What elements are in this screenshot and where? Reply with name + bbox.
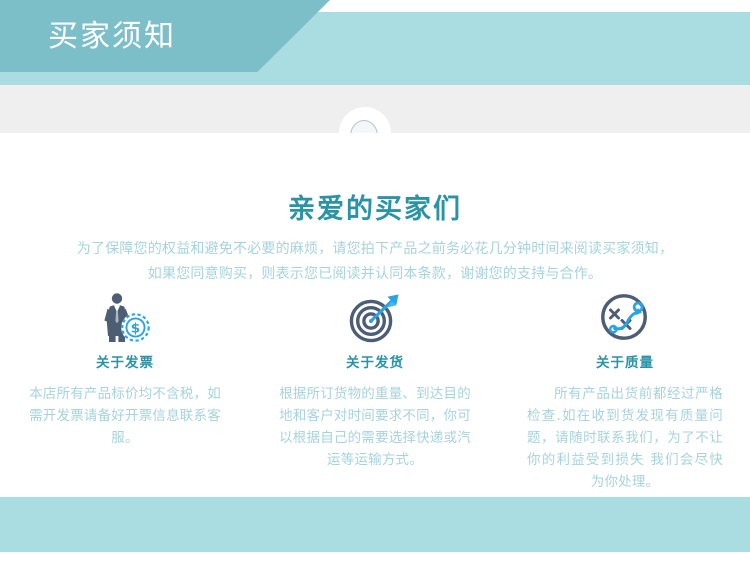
buyer-notice-banner: 买家须知 亲爱的买家们 为了保障您的权益和避免不必要的麻烦，请您拍下产品之前务必… <box>0 0 750 570</box>
column-text-quality: 所有产品出货前都经过严格检查.如在收到货发现有质量问题，请随时联系我们，为了不让… <box>527 383 723 493</box>
column-heading-invoice: 关于发票 <box>96 354 154 372</box>
info-columns: $ 关于发票 本店所有产品标价均不含税，如需开发票请备好开票信息联系客服。 <box>0 291 750 493</box>
page-header: 买家须知 <box>0 0 750 85</box>
intro-line-1: 为了保障您的权益和避免不必要的麻烦，请您拍下产品之前务必花几分钟时间来阅读买家须… <box>60 237 690 262</box>
footer-white-strip <box>0 552 750 570</box>
footer-band <box>0 497 750 552</box>
svg-text:$: $ <box>131 320 140 336</box>
businessman-with-dollar-coin-icon: $ <box>96 291 154 343</box>
intro-paragraph: 为了保障您的权益和避免不必要的麻烦，请您拍下产品之前务必花几分钟时间来阅读买家须… <box>60 237 690 287</box>
target-with-dart-icon <box>346 291 404 343</box>
column-text-shipping: 根据所订货物的重量、到达目的地和客户对时间要求不同，你可以根据自己的需要选择快递… <box>277 383 473 471</box>
info-column-quality: 关于质量 所有产品出货前都经过严格检查.如在收到货发现有质量问题，请随时联系我们… <box>500 291 750 493</box>
column-heading-quality: 关于质量 <box>596 354 654 372</box>
info-column-shipping: 关于发货 根据所订货物的重量、到达目的地和客户对时间要求不同，你可以根据自己的需… <box>250 291 500 493</box>
info-column-invoice: $ 关于发票 本店所有产品标价均不含税，如需开发票请备好开票信息联系客服。 <box>0 291 250 493</box>
column-heading-shipping: 关于发货 <box>346 354 404 372</box>
page-title: 买家须知 <box>48 17 176 57</box>
strategy-tactics-circle-icon <box>596 291 654 343</box>
main-heading: 亲爱的买家们 <box>0 193 750 227</box>
intro-line-2: 如果您同意购买，则表示您已阅读并认同本条款，谢谢您的支持与合作。 <box>60 262 690 287</box>
main-content: 亲爱的买家们 为了保障您的权益和避免不必要的麻烦，请您拍下产品之前务必花几分钟时… <box>0 133 750 497</box>
column-text-invoice: 本店所有产品标价均不含税，如需开发票请备好开票信息联系客服。 <box>27 383 223 449</box>
